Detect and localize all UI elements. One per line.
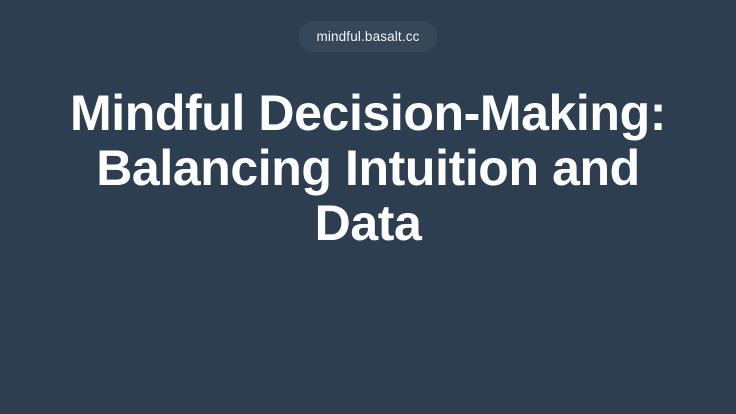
domain-badge: mindful.basalt.cc [299,21,436,52]
page-title: Mindful Decision-Making: Balancing Intui… [68,86,668,251]
title-block: Mindful Decision-Making: Balancing Intui… [68,86,668,251]
social-share-card: mindful.basalt.cc Mindful Decision-Makin… [0,0,736,414]
domain-badge-label: mindful.basalt.cc [316,30,419,44]
